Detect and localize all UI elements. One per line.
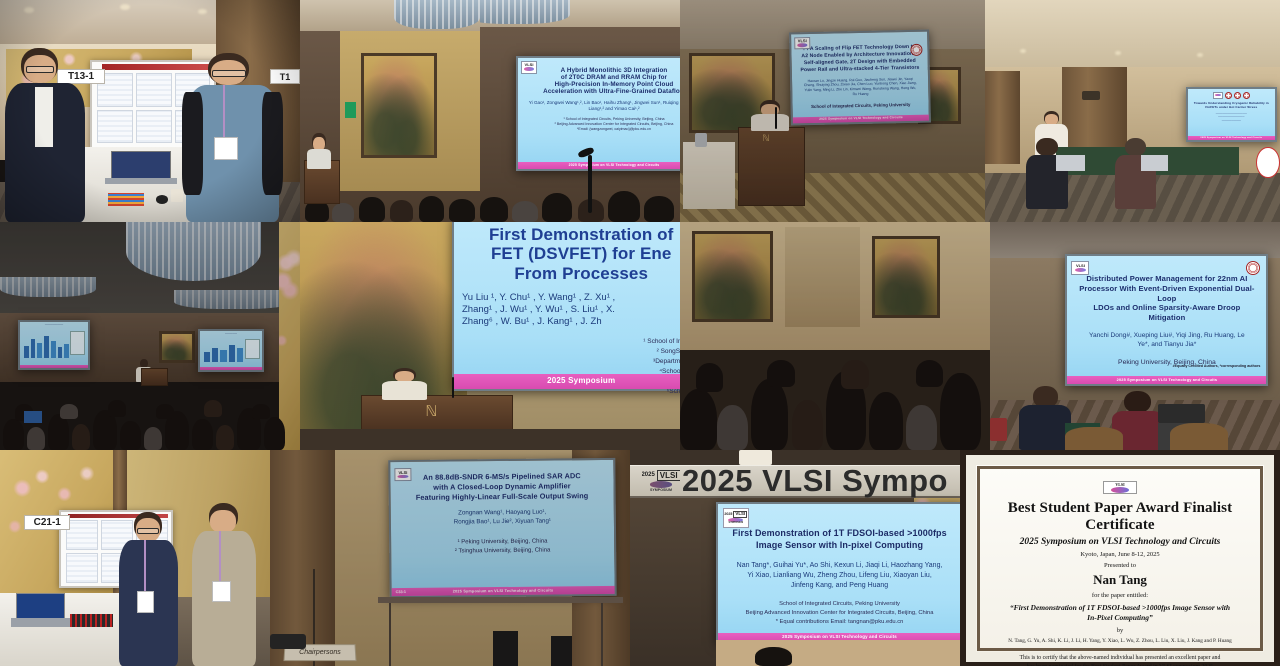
slide-image-sensor: 2025 VLSI SYMPOSIUM First Demonstration …: [716, 502, 960, 645]
certify-line: This is to certify that the above-named …: [1020, 654, 1221, 663]
slide-title-line: A Hybrid Monolithic 3D Integration: [522, 67, 680, 74]
panel-plenary-hall: ——————— —————: [0, 222, 300, 450]
slide-footer: 2025 Symposium on VLSI Technology and Ci…: [391, 585, 614, 596]
slide-authors: Yanchi Dong#, Xueping Liu#, Yiqi Jing, R…: [1074, 332, 1259, 350]
vlsi-logo-icon: 2025 VLSI SYMPOSIUM: [723, 508, 749, 528]
panel-poster-c21: C21-1: [0, 450, 270, 666]
pku-seal-icon: [1246, 261, 1260, 275]
slide-title-line: of 2T0C DRAM and RRAM Chip for: [522, 74, 680, 81]
award-certificate: VLSI Best Student Paper Award Finalist C…: [966, 455, 1274, 662]
vlsi-logo-icon: 2025 VLSI SYMPOSIUM: [642, 468, 680, 494]
panel-poster-t13: T13-1 T1: [0, 0, 300, 222]
university-seal-icon: [1234, 92, 1241, 99]
slide-footer: 2025 Symposium: [454, 374, 680, 389]
slide-title-line: An 88.8dB-SNDR 6-MS/s Pipelined SAR ADC: [396, 471, 607, 483]
slide-title-line: First Demonstration of: [462, 225, 680, 244]
by-label: by: [1117, 627, 1124, 634]
japanese-screen-art: [361, 53, 437, 157]
slide-title-line: Processor With Event-Driven Exponential …: [1074, 284, 1259, 304]
attendee-left: [1019, 386, 1071, 450]
projection-screen-left: ———————: [18, 320, 90, 370]
logo-mark: VLSI: [657, 470, 680, 481]
slide-flip-fet: VLSI PPA Scaling of Flip FET Technology …: [789, 30, 931, 126]
vlsi-logo-icon: VLSI: [1071, 261, 1089, 275]
vlsi-logo-icon: VLSI: [794, 37, 810, 49]
session-tag: C33-1: [395, 590, 405, 594]
paper-authors: N. Tang, G. Yu, A. Shi, K. Li, J. Li, H.…: [1008, 638, 1231, 644]
panel-audience-midright: [680, 222, 990, 450]
slide-affiliation: ¹ School of Integra: [462, 337, 680, 347]
panel-talk-dsvfet: First Demonstration of FET (DSVFET) for …: [300, 222, 680, 450]
presented-to-label: Presented to: [1104, 562, 1136, 569]
panel-talk-flip-fet: VLSI PPA Scaling of Flip FET Technology …: [680, 0, 985, 222]
poster-number-badge: C21-1: [24, 515, 70, 530]
slide-authors-line: Rongjia Bao¹, Lu Jie², Xiyuan Tang¹: [397, 516, 608, 527]
slide-title-line: FinFETs under Hot Carrier Stress: [1192, 105, 1271, 109]
university-seal-icon: [1243, 92, 1250, 99]
slide-title-line: LDOs and Online Sparsity-Aware Droop Mit…: [1074, 303, 1259, 323]
slide-title-line: Acceleration with Ultra-Fine-Grained Dat…: [522, 88, 680, 95]
panel-talk-sar-adc: VLSI An 88.8dB-SNDR 6-MS/s Pipelined SAR…: [270, 450, 630, 666]
paper-title-line: In-Pixel Computing”: [1010, 613, 1230, 623]
certificate-location-date: Kyoto, Japan, June 8-12, 2025: [1080, 551, 1159, 558]
vlsi-seal-icon: VLSI: [1103, 481, 1137, 494]
certificate-heading: Best Student Paper Award Finalist Certif…: [994, 500, 1246, 534]
logo-sub: SYMPOSIUM: [650, 488, 672, 492]
slide-footer: 2025 Symposium on VLSI Technology and Ci…: [1188, 136, 1275, 140]
recipient-name: Nan Tang: [1093, 572, 1147, 588]
vlsi-logo-icon: VLSI: [521, 61, 537, 74]
event-banner: 2025 VLSI SYMPOSIUM 2025 VLSI Sympo: [630, 465, 960, 497]
slide-affiliation: ² SongShan L: [462, 347, 680, 357]
slide-affiliation: * Equal contributions Email: tangnan@pku…: [724, 618, 956, 627]
slide-affiliation: School of Integrated Circuits, Peking Un…: [796, 103, 924, 111]
speaker: [380, 368, 429, 400]
presenter-left: [3, 44, 87, 222]
slide-title-line: Featuring Highly-Linear Full-Scale Outpu…: [396, 490, 607, 502]
projection-screen-right: —————: [198, 329, 264, 372]
slide-title-line: High-Precision In-Memory Point Cloud: [522, 81, 680, 88]
panel-banner-and-image-sensor: 2025 VLSI SYMPOSIUM 2025 VLSI Sympo 2025…: [630, 450, 960, 666]
panel-certificate: VLSI Best Student Paper Award Finalist C…: [960, 450, 1280, 666]
vlsi-logo-icon: [1213, 92, 1223, 99]
slide-note: #Equally Credited Authors, *correspondin…: [1173, 364, 1261, 368]
photo-collage: T13-1 T1: [0, 0, 1280, 666]
slide-dsvfet: First Demonstration of FET (DSVFET) for …: [452, 222, 680, 391]
banner-text: 2025 VLSI Sympo: [682, 463, 948, 499]
slide-title-line: FET (DSVFET) for Ene: [462, 244, 680, 263]
slide-authors: Haoran Lu, Jingze Huang, Rui Guo, Jiache…: [796, 76, 925, 98]
slide-authors-line: Jinfeng Kang, and Peng Huang: [724, 581, 956, 591]
slide-footer: 2025 Symposium on VLSI Technology and Ci…: [793, 114, 929, 123]
paper-title-line: “First Demonstration of 1T FDSOI-based >…: [1010, 603, 1230, 613]
slide-hybrid-3d: VLSI A Hybrid Monolithic 3D Integration …: [516, 56, 680, 171]
session-chair-left: [1026, 138, 1067, 209]
vlsi-logo-icon: VLSI: [394, 468, 411, 481]
panel-talk-cryogenic: Towards Understanding Cryogenic Reliabil…: [985, 0, 1280, 222]
presenter-right: [192, 502, 257, 666]
session-chair-right: [1115, 138, 1156, 209]
pku-seal-icon: [1225, 92, 1232, 99]
presenter-right: [186, 51, 279, 222]
panel-talk-hybrid-3d-screen: VLSI A Hybrid Monolithic 3D Integration …: [480, 0, 680, 222]
slide-title-line: From Processes: [462, 264, 680, 283]
slide-affiliation: ³Department of: [462, 357, 680, 367]
slide-affiliation: ² Tsinghua University, Beijing, China: [397, 545, 608, 556]
panel-talk-hybrid-3d: [300, 0, 480, 222]
slide-authors-line: Zhang¹ , J. Wu¹ , Y. Wu¹ , S. Liu¹ , X.: [462, 304, 680, 316]
panel-talk-ldo: VLSI Distributed Power Management for 22…: [990, 222, 1280, 450]
slide-authors: Yi Gao¹, Zongwei Wang¹,², Lin Bao¹, Haih…: [522, 100, 680, 112]
slide-title-line: Towards Understanding Cryogenic Reliabil…: [1192, 101, 1271, 105]
slide-ldo: VLSI Distributed Power Management for 22…: [1065, 254, 1268, 386]
speaker: [750, 100, 790, 131]
slide-title-line: Image Sensor with In-pixel Computing: [724, 540, 956, 552]
for-paper-label: for the paper entitled:: [1092, 592, 1148, 599]
logo-year: 2025: [642, 472, 655, 478]
slide-footer: 2025 Symposium on VLSI Technology and Ci…: [518, 162, 680, 169]
slide-affiliation: School of Integrated Circuits, Peking Un…: [724, 600, 956, 609]
slide-authors-line: Yi Xiao, Lianliang Wu, Zheng Zhou, Lifen…: [724, 571, 956, 581]
slide-authors-line: Nan Tang*, Guihai Yu*, Ao Shi, Kexun Li,…: [724, 561, 956, 571]
presenter-left: [119, 510, 178, 666]
slide-authors-line: Zhang⁶ , W. Bu¹ , J. Kang¹ , J. Zh: [462, 316, 680, 328]
slide-cryogenic: Towards Understanding Cryogenic Reliabil…: [1186, 87, 1277, 143]
certificate-subheading: 2025 Symposium on VLSI Technology and Ci…: [1020, 537, 1221, 547]
slide-affiliation: *Email: {wangzongwei, caiyimao}@pku.edu.…: [522, 127, 680, 132]
microphone-icon: [588, 155, 592, 213]
slide-title-line: First Demonstration of 1T FDSOI-based >1…: [724, 528, 956, 540]
slide-authors-line: Yu Liu ¹, Y. Chu¹ , Y. Wang¹ , Z. Xu¹ ,: [462, 292, 680, 304]
slide-title-line: Distributed Power Management for 22nm AI: [1074, 274, 1259, 284]
slide-sar-adc: VLSI An 88.8dB-SNDR 6-MS/s Pipelined SAR…: [388, 457, 616, 598]
slide-footer: 2025 Symposium on VLSI Technology and Ci…: [1067, 376, 1266, 384]
slide-affiliation: Beijing Advanced Innovation Center for I…: [724, 609, 956, 618]
